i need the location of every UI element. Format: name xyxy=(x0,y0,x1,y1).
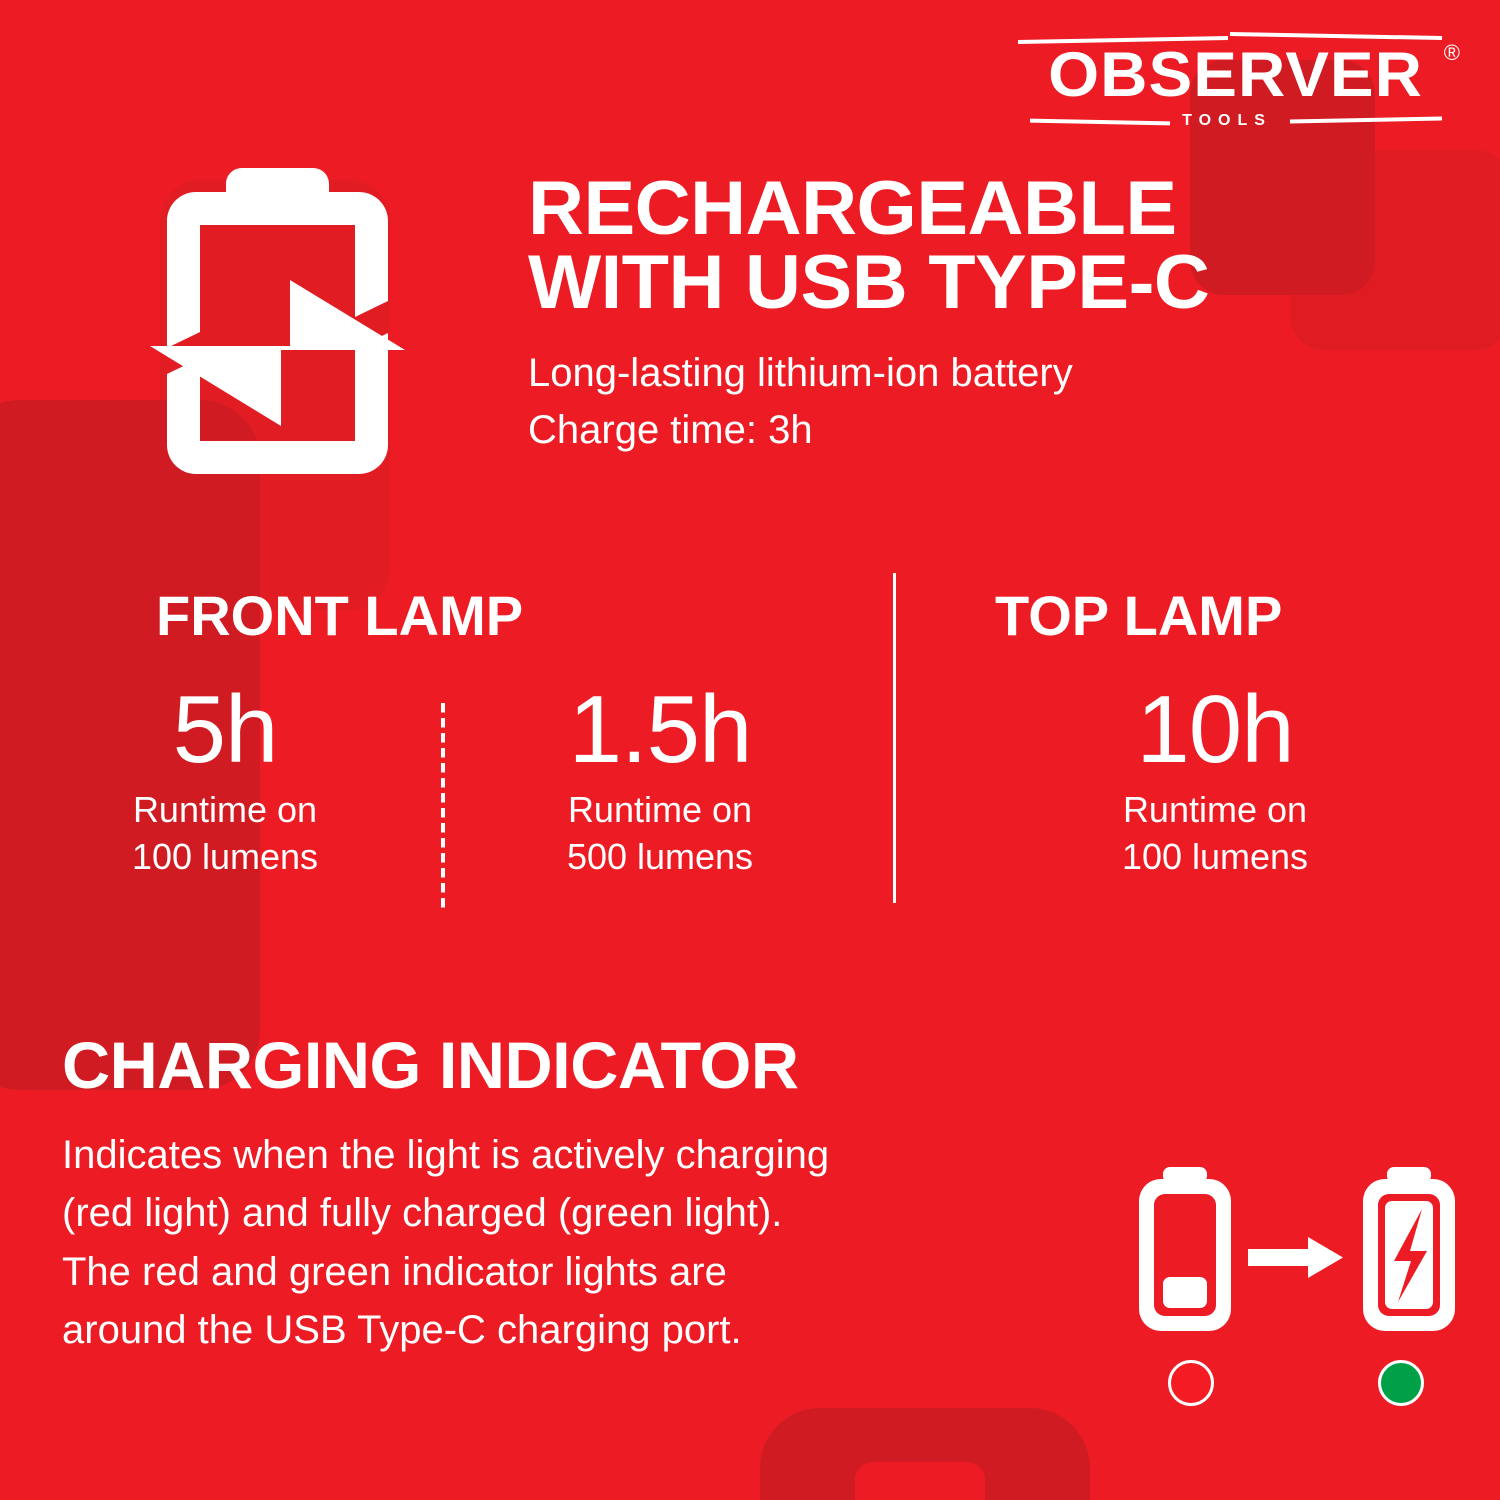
charging-indicator-section: CHARGING INDICATOR Indicates when the li… xyxy=(62,1032,1162,1360)
hero-title-line1: RECHARGEABLE xyxy=(528,172,1446,246)
background-shape-bottom-b xyxy=(855,1462,985,1500)
lamp-runtime-section: FRONT LAMP TOP LAMP 5h Runtime on 100 lu… xyxy=(0,565,1500,915)
runtime-value: 5h xyxy=(80,680,370,781)
top-lamp-heading: TOP LAMP xyxy=(995,583,1282,648)
runtime-label-line1: Runtime on xyxy=(1070,787,1360,834)
battery-charging-icon xyxy=(150,168,405,498)
brand-logo: OBSERVER TOOLS ® xyxy=(1012,26,1462,131)
divider-solid xyxy=(893,573,896,903)
brand-tagline: TOOLS xyxy=(1012,112,1442,130)
charging-body-line4: around the USB Type-C charging port. xyxy=(62,1301,1162,1359)
charging-body-line2: (red light) and fully charged (green lig… xyxy=(62,1184,1162,1242)
charging-indicator-title: CHARGING INDICATOR xyxy=(62,1032,1173,1098)
runtime-label-line2: 100 lumens xyxy=(80,834,370,881)
runtime-label-line2: 500 lumens xyxy=(515,834,805,881)
brand-name: OBSERVER xyxy=(1012,44,1459,107)
background-shape-bottom-a xyxy=(760,1408,1090,1500)
hero-subtitle-line1: Long-lasting lithium-ion battery xyxy=(528,345,1428,402)
hero-title-line2: WITH USB TYPE-C xyxy=(528,246,1446,320)
battery-charging-bolt-icon xyxy=(1363,1167,1455,1331)
charging-body-line3: The red and green indicator lights are xyxy=(62,1243,1162,1301)
runtime-value: 10h xyxy=(1070,680,1360,781)
hero-text-block: RECHARGEABLE WITH USB TYPE-C Long-lastin… xyxy=(528,172,1428,459)
infographic-canvas: OBSERVER TOOLS ® RECHARGEABLE WITH USB T… xyxy=(0,0,1500,1500)
registered-trademark-icon: ® xyxy=(1444,40,1460,66)
runtime-label-line1: Runtime on xyxy=(515,787,805,834)
runtime-stat: 5h Runtime on 100 lumens xyxy=(80,680,370,880)
runtime-value: 1.5h xyxy=(515,680,805,781)
runtime-stat: 10h Runtime on 100 lumens xyxy=(1070,680,1360,880)
red-indicator-dot xyxy=(1168,1360,1214,1406)
front-lamp-heading: FRONT LAMP xyxy=(156,583,523,648)
charging-body-line1: Indicates when the light is actively cha… xyxy=(62,1126,1162,1184)
battery-low-icon xyxy=(1139,1167,1231,1331)
hero-subtitle-line2: Charge time: 3h xyxy=(528,402,1428,459)
arrow-right-icon xyxy=(1248,1237,1343,1278)
green-indicator-dot xyxy=(1378,1360,1424,1406)
logo-rule-top-right xyxy=(1230,32,1442,40)
runtime-label-line1: Runtime on xyxy=(80,787,370,834)
runtime-stat: 1.5h Runtime on 500 lumens xyxy=(515,680,805,880)
runtime-label-line2: 100 lumens xyxy=(1070,834,1360,881)
charging-illustration xyxy=(1130,1165,1480,1415)
divider-dashed xyxy=(441,703,445,913)
